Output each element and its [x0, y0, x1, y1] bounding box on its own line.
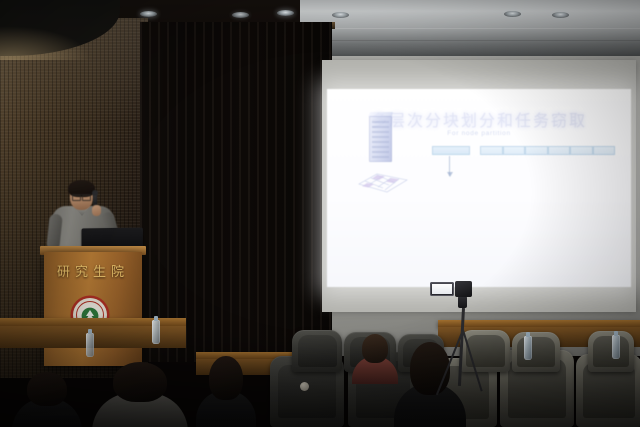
ceiling-spotlight-2 [232, 12, 249, 18]
auditorium-seat-9 [512, 332, 560, 372]
eyeglasses-icon [72, 194, 91, 199]
curtain-folds [140, 22, 332, 362]
water-bottle-3 [612, 335, 620, 359]
projection-screen[interactable]: 多层次分块划分和任务窃取 For node partition [327, 89, 631, 287]
grid-mesh-icon [357, 166, 409, 194]
partition-segment-2 [525, 146, 548, 155]
seat-cushion [517, 337, 554, 367]
partition-segment-0 [480, 146, 503, 155]
water-bottle-0 [152, 320, 160, 344]
audience-head-4 [410, 342, 450, 395]
projection-screen-frame: 多层次分块划分和任务窃取 For node partition [322, 60, 636, 312]
camera-lcd-display [432, 284, 452, 294]
water-bottle-2 [524, 336, 532, 360]
partition-block [432, 146, 470, 155]
seat-cushion [593, 336, 629, 367]
audience-head-1 [113, 362, 167, 402]
microphone-head-icon [92, 190, 98, 196]
server-rack-icon [369, 116, 392, 162]
presentation-slide: 多层次分块划分和任务窃取 For node partition [327, 89, 631, 287]
ceiling-spotlight-5 [504, 11, 521, 17]
partition-segment-1 [503, 146, 526, 155]
camera-lcd-screen[interactable] [430, 282, 454, 296]
partition-segment-3 [548, 146, 571, 155]
partition-segment-4 [570, 146, 593, 155]
ceiling-spotlight-1 [140, 11, 157, 17]
presenter-hand [92, 205, 101, 216]
right-desk-row [438, 320, 640, 327]
audience-head-0 [27, 372, 66, 406]
partition-segment-bar [480, 146, 615, 155]
lecture-hall-photo: 多层次分块划分和任务窃取 For node partition [0, 0, 640, 427]
partition-segment-5 [593, 146, 616, 155]
seat-cushion [278, 365, 336, 419]
stage-curtain [140, 22, 332, 362]
water-bottle-1 [86, 333, 94, 357]
ceiling-seam [300, 28, 640, 29]
auditorium-seat-10 [588, 331, 634, 372]
auditorium-seat-5 [292, 330, 342, 372]
ceiling-spotlight-4 [332, 12, 349, 18]
ceiling-light-panel [300, 0, 640, 62]
tripod-head [458, 296, 467, 308]
ceiling-spotlight-6 [552, 12, 569, 18]
audience-head-2 [209, 356, 243, 400]
down-arrow-icon [449, 156, 450, 176]
audience-head-3 [362, 334, 388, 363]
wall-top-glow [0, 26, 92, 60]
ceiling-seam-secondary [300, 40, 640, 41]
seat-armrest-knob [300, 382, 309, 391]
video-camera[interactable] [455, 281, 472, 297]
ceiling-spotlight-3 [277, 10, 294, 16]
seat-cushion [298, 335, 337, 367]
podium-label: 研究生院 [44, 261, 142, 280]
